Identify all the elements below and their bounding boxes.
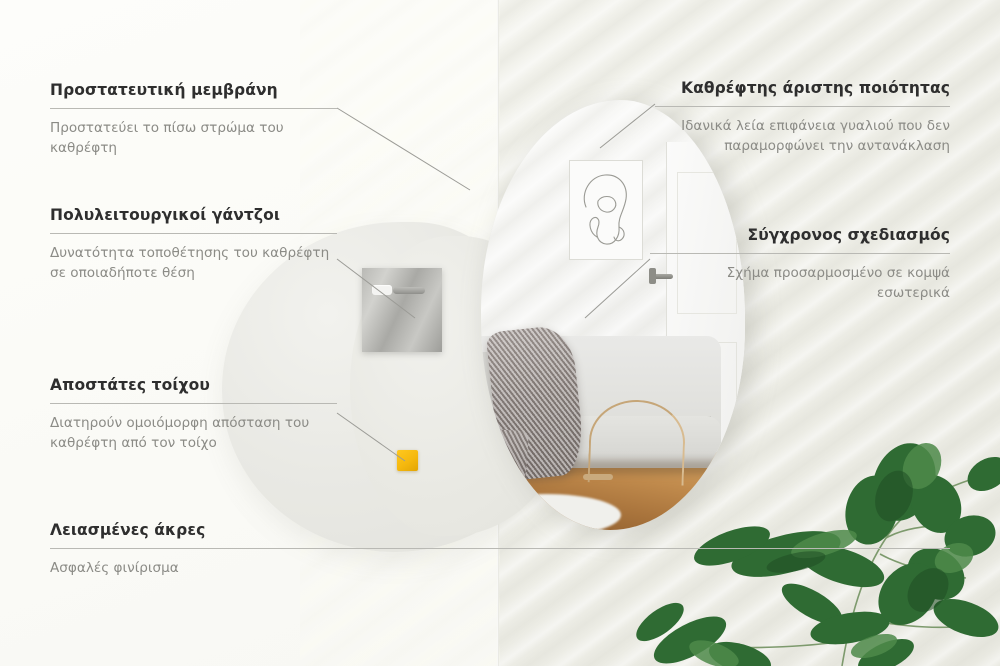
- callout-description: Διατηρούν ομοιόμορφη απόσταση του καθρέφ…: [50, 413, 337, 454]
- line-art-face-poster: [569, 160, 643, 260]
- callout-rule: [50, 548, 950, 549]
- callout-description: Προστατεύει το πίσω στρώμα του καθρέφτη: [50, 118, 337, 159]
- callout-title: Λειασμένες άκρες: [50, 520, 950, 541]
- callout-description: Ασφαλές φινίρισμα: [50, 558, 950, 579]
- callout-rule: [50, 108, 337, 109]
- callout-modern-design: Σύγχρονος σχεδιασμός Σχήμα προσαρμοσμένο…: [650, 225, 950, 304]
- callout-multifunctional-hooks: Πολυλειτουργικοί γάντζοι Δυνατότητα τοπο…: [50, 205, 337, 284]
- metal-hanger-plate: [362, 268, 442, 352]
- yellow-wall-spacer: [397, 450, 418, 471]
- callout-rule: [50, 233, 337, 234]
- callout-description: Ιδανικά λεία επιφάνεια γυαλιού που δεν π…: [655, 116, 950, 157]
- callout-protective-membrane: Προστατευτική μεμβράνη Προστατεύει το πί…: [50, 80, 337, 159]
- callout-title: Σύγχρονος σχεδιασμός: [650, 225, 950, 246]
- hanger-bar: [393, 287, 425, 294]
- callout-title: Προστατευτική μεμβράνη: [50, 80, 337, 101]
- callout-description: Δυνατότητα τοποθέτησης του καθρέφτη σε ο…: [50, 243, 337, 284]
- callout-smoothed-edges: Λειασμένες άκρες Ασφαλές φινίρισμα: [50, 520, 950, 578]
- callout-rule: [50, 403, 337, 404]
- infographic-canvas: Προστατευτική μεμβράνη Προστατεύει το πί…: [0, 0, 1000, 666]
- callout-description: Σχήμα προσαρμοσμένο σε κομψά εσωτερικά: [650, 263, 950, 304]
- hanger-keyhole-slot: [372, 285, 392, 295]
- callout-title: Αποστάτες τοίχου: [50, 375, 337, 396]
- callout-title: Καθρέφτης άριστης ποιότητας: [655, 78, 950, 99]
- callout-rule: [655, 106, 950, 107]
- callout-rule: [650, 253, 950, 254]
- callout-title: Πολυλειτουργικοί γάντζοι: [50, 205, 337, 226]
- callout-top-quality-mirror: Καθρέφτης άριστης ποιότητας Ιδανικά λεία…: [655, 78, 950, 157]
- callout-wall-spacers: Αποστάτες τοίχου Διατηρούν ομοιόμορφη απ…: [50, 375, 337, 454]
- arc-lamp-base: [583, 474, 613, 480]
